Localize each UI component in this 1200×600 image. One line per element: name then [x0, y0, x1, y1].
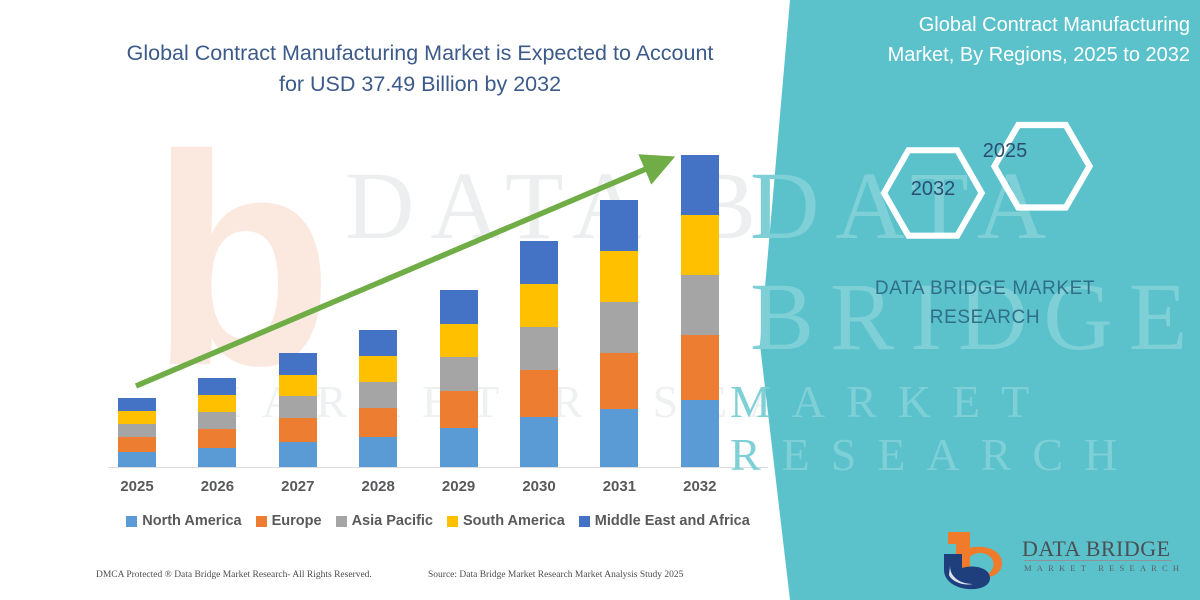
- legend-label: Asia Pacific: [352, 513, 433, 529]
- chart-legend: North AmericaEuropeAsia PacificSouth Ame…: [108, 513, 768, 529]
- logo-mark-icon: [940, 530, 1016, 590]
- bar-segment: [118, 411, 156, 424]
- footer-copyright: DMCA Protected ® Data Bridge Market Rese…: [96, 570, 372, 580]
- panel-title: Global Contract Manufacturing Market, By…: [790, 10, 1190, 70]
- bar-segment: [600, 302, 638, 353]
- bar-segment: [279, 442, 317, 467]
- bar-segment: [359, 382, 397, 408]
- logo-divider: [1024, 560, 1172, 561]
- bar-segment: [681, 155, 719, 215]
- x-axis-label-2029: 2029: [419, 478, 499, 495]
- bar-column-2027: [279, 353, 317, 467]
- legend-item[interactable]: Europe: [256, 513, 322, 529]
- bar-segment: [279, 396, 317, 418]
- bar-segment: [198, 448, 236, 467]
- x-axis-label-2031: 2031: [579, 478, 659, 495]
- x-axis-label-2025: 2025: [97, 478, 177, 495]
- panel-brand-line2: RESEARCH: [930, 307, 1040, 328]
- logo-name-bottom: MARKET RESEARCH: [1024, 563, 1184, 573]
- legend-swatch-icon: [256, 516, 267, 527]
- legend-swatch-icon: [336, 516, 347, 527]
- bar-column-2025: [118, 398, 156, 467]
- bar-segment: [681, 215, 719, 275]
- bar-column-2032: [681, 155, 719, 467]
- legend-item[interactable]: North America: [126, 513, 241, 529]
- legend-swatch-icon: [126, 516, 137, 527]
- bar-segment: [198, 378, 236, 395]
- legend-item[interactable]: Asia Pacific: [336, 513, 433, 529]
- x-axis-label-2026: 2026: [177, 478, 257, 495]
- x-axis-label-2028: 2028: [338, 478, 418, 495]
- bar-segment: [279, 418, 317, 442]
- bar-segment: [600, 409, 638, 467]
- logo-name-top: DATA BRIDGE: [1022, 536, 1171, 562]
- bar-segment: [440, 324, 478, 357]
- x-axis-line: [108, 467, 768, 468]
- legend-swatch-icon: [447, 516, 458, 527]
- bar-segment: [440, 428, 478, 467]
- bar-segment: [359, 437, 397, 467]
- panel-brand-line1: DATA BRIDGE MARKET: [875, 278, 1095, 299]
- bar-segment: [279, 375, 317, 396]
- hexagon-year-2025: 2025: [965, 140, 1045, 163]
- bar-segment: [520, 241, 558, 284]
- bar-segment: [681, 335, 719, 400]
- bar-segment: [440, 290, 478, 324]
- footer-source: Source: Data Bridge Market Research Mark…: [428, 570, 683, 580]
- legend-label: Middle East and Africa: [595, 513, 750, 529]
- bar-segment: [681, 275, 719, 335]
- legend-label: South America: [463, 513, 565, 529]
- bar-segment: [198, 429, 236, 448]
- company-logo: DATA BRIDGE MARKET RESEARCH: [940, 530, 1190, 592]
- bar-segment: [600, 251, 638, 302]
- bar-segment: [520, 370, 558, 417]
- legend-label: North America: [142, 513, 241, 529]
- legend-item[interactable]: Middle East and Africa: [579, 513, 750, 529]
- panel-title-line2: Market, By Regions, 2025 to 2032: [888, 44, 1190, 66]
- bar-segment: [118, 398, 156, 411]
- bar-segment: [520, 284, 558, 327]
- bar-segment: [520, 417, 558, 467]
- bar-column-2029: [440, 290, 478, 467]
- hexagon-year-2032: 2032: [893, 178, 973, 201]
- bar-column-2031: [600, 200, 638, 467]
- bar-segment: [440, 357, 478, 391]
- hexagon-pair: [850, 105, 1130, 245]
- right-panel: DATA BRIDGE MARKET RESEARCH Global Contr…: [760, 0, 1200, 600]
- panel-brand: DATA BRIDGE MARKET RESEARCH: [820, 274, 1150, 332]
- bar-segment: [279, 353, 317, 375]
- bar-segment: [600, 200, 638, 251]
- bar-segment: [118, 424, 156, 437]
- bar-segment: [359, 356, 397, 382]
- bar-column-2030: [520, 241, 558, 467]
- bar-segment: [118, 437, 156, 452]
- x-axis-label-2032: 2032: [660, 478, 740, 495]
- bar-segment: [600, 353, 638, 409]
- bar-segment: [359, 408, 397, 437]
- panel-title-line1: Global Contract Manufacturing: [919, 14, 1190, 36]
- legend-swatch-icon: [579, 516, 590, 527]
- legend-item[interactable]: South America: [447, 513, 565, 529]
- hexagon-2025-shape: [995, 125, 1090, 208]
- bar-segment: [198, 395, 236, 412]
- bar-column-2026: [198, 378, 236, 467]
- x-axis-label-2027: 2027: [258, 478, 338, 495]
- x-axis-label-2030: 2030: [499, 478, 579, 495]
- bar-segment: [118, 452, 156, 467]
- legend-label: Europe: [272, 513, 322, 529]
- bar-segment: [359, 330, 397, 356]
- stacked-bar-chart: 20252026202720282029203020312032 North A…: [0, 0, 800, 600]
- bar-segment: [440, 391, 478, 428]
- infographic-canvas: b DATA BRIDGE MARKET RESEARCH Global Con…: [0, 0, 1200, 600]
- bar-column-2028: [359, 330, 397, 467]
- bar-segment: [520, 327, 558, 370]
- bar-segment: [681, 400, 719, 467]
- bar-segment: [198, 412, 236, 429]
